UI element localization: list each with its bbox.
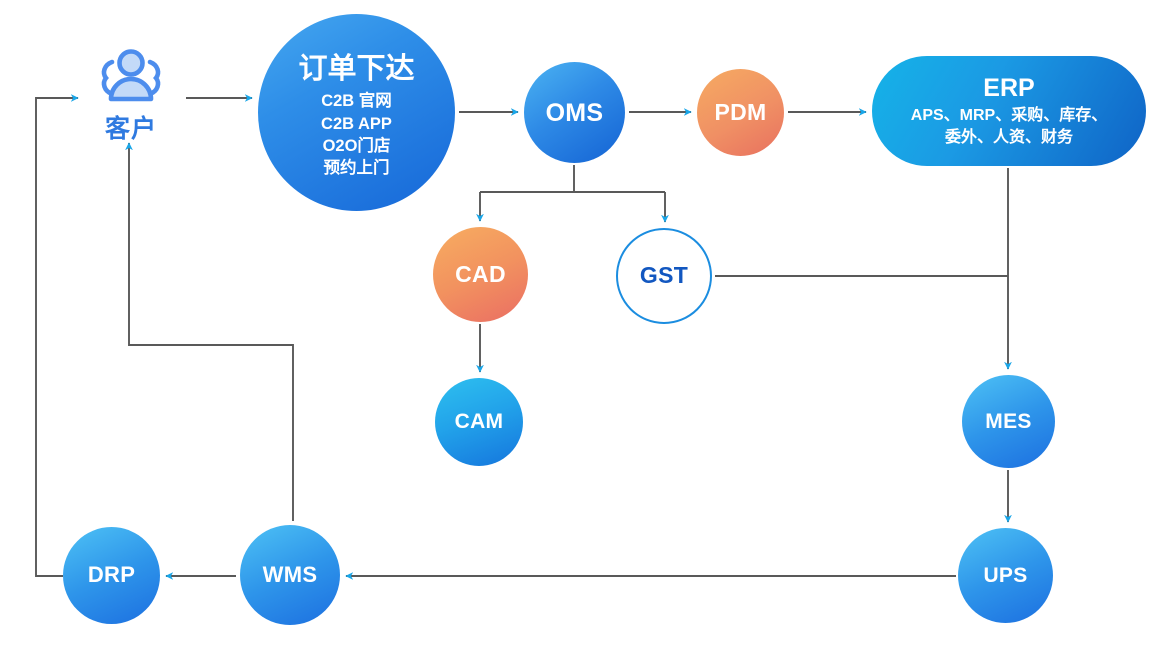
cad-label: CAD (455, 262, 506, 288)
node-ups[interactable]: UPS (958, 528, 1053, 623)
diagram-canvas: 客户 订单下达 C2B 官网 C2B APP O2O门店 预约上门 OMS PD… (0, 0, 1172, 654)
order-sub-line-4: 预约上门 (324, 157, 390, 179)
mes-label: MES (985, 410, 1031, 434)
node-cad[interactable]: CAD (433, 227, 528, 322)
gst-label: GST (640, 263, 688, 289)
node-mes[interactable]: MES (962, 375, 1055, 468)
node-cam[interactable]: CAM (435, 378, 523, 466)
edge-drp-to-customer (36, 98, 78, 576)
people-group-icon (95, 46, 167, 108)
order-sub-line-2: C2B APP (321, 113, 392, 135)
node-pdm[interactable]: PDM (697, 69, 784, 156)
ups-label: UPS (983, 564, 1027, 588)
wms-label: WMS (263, 563, 318, 588)
drp-label: DRP (88, 563, 135, 588)
edge-wms-to-customer (129, 143, 293, 521)
erp-title: ERP (983, 74, 1034, 103)
oms-label: OMS (546, 99, 604, 127)
node-drp[interactable]: DRP (63, 527, 160, 624)
order-sub-line-3: O2O门店 (323, 135, 391, 157)
pdm-label: PDM (714, 100, 766, 126)
node-erp[interactable]: ERP APS、MRP、采购、库存、 委外、人资、财务 (872, 56, 1146, 166)
order-title: 订单下达 (298, 45, 414, 87)
erp-sub-line-1: APS、MRP、采购、库存、 (911, 105, 1107, 126)
node-wms[interactable]: WMS (240, 525, 340, 625)
order-sub-line-1: C2B 官网 (321, 90, 392, 112)
node-customer[interactable]: 客户 (80, 45, 182, 145)
node-order[interactable]: 订单下达 C2B 官网 C2B APP O2O门店 预约上门 (258, 14, 455, 211)
cam-label: CAM (455, 410, 504, 434)
erp-sub-line-2: 委外、人资、财务 (945, 127, 1073, 148)
node-gst[interactable]: GST (616, 228, 712, 324)
customer-label: 客户 (105, 109, 157, 145)
node-oms[interactable]: OMS (524, 62, 625, 163)
